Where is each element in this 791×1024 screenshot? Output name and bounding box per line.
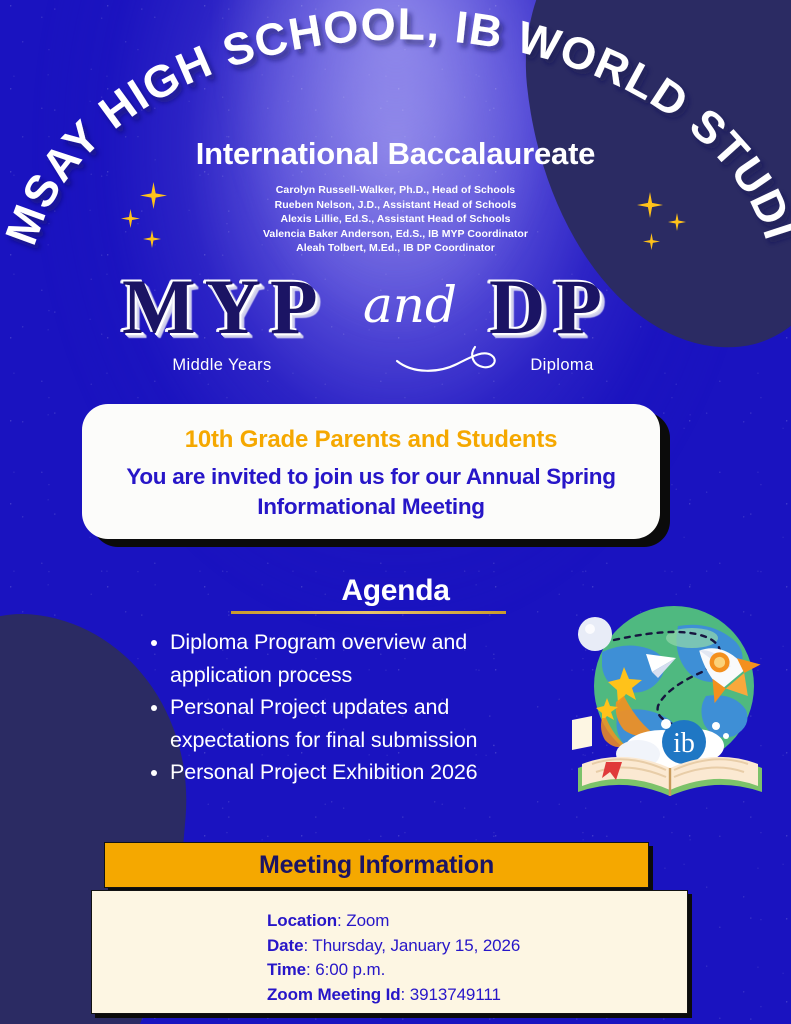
- meeting-info-row: Date: Thursday, January 15, 2026: [267, 934, 687, 959]
- paper-sheet-icon: [572, 716, 592, 750]
- program-myp-abbr: MYP: [122, 268, 327, 346]
- agenda-item: Diploma Program overview and application…: [170, 626, 570, 691]
- ib-badge-text: ib: [673, 728, 695, 759]
- staff-line: Aleah Tolbert, M.Ed., IB DP Coordinator: [0, 241, 791, 256]
- moon-icon: [578, 617, 612, 651]
- meeting-info-value: Zoom: [346, 911, 389, 930]
- meeting-info-value: Thursday, January 15, 2026: [312, 936, 520, 955]
- agenda-list: Diploma Program overview and application…: [148, 626, 570, 789]
- meeting-info-label: Time: [267, 960, 306, 979]
- meeting-info-label: Location: [267, 911, 337, 930]
- meeting-info-body: Location: Zoom Date: Thursday, January 1…: [91, 890, 688, 1014]
- meeting-info-label: Date: [267, 936, 303, 955]
- staff-list: Carolyn Russell-Walker, Ph.D., Head of S…: [0, 183, 791, 256]
- meeting-info-value: 3913749111: [410, 985, 501, 1004]
- staff-line: Alexis Lillie, Ed.S., Assistant Head of …: [0, 212, 791, 227]
- meeting-info-separator: :: [401, 985, 410, 1004]
- program-dp-abbr: DP: [489, 268, 611, 346]
- meeting-info-value: 6:00 p.m.: [315, 960, 385, 979]
- program-dp-label: Diploma: [487, 356, 637, 375]
- programs-section: MYP and DP Middle Years Diploma: [0, 268, 791, 378]
- agenda-divider: [231, 611, 506, 614]
- meeting-info-row: Zoom Meeting Id: 3913749111: [267, 983, 687, 1008]
- globe-open-book-illustration: ib: [566, 600, 774, 808]
- meeting-info-row: Location: Zoom: [267, 909, 687, 934]
- meeting-info-separator: :: [337, 911, 346, 930]
- staff-line: Rueben Nelson, J.D., Assistant Head of S…: [0, 198, 791, 213]
- meeting-info-header: Meeting Information: [104, 842, 649, 888]
- staff-line: Valencia Baker Anderson, Ed.S., IB MYP C…: [0, 227, 791, 242]
- program-myp-label: Middle Years: [122, 356, 322, 375]
- poster-canvas: RAMSAY HIGH SCHOOL, IB WORLD STUDIES Int…: [0, 0, 791, 1024]
- invitation-audience: 10th Grade Parents and Students: [185, 426, 558, 454]
- meeting-info-label: Zoom Meeting Id: [267, 985, 401, 1004]
- meeting-info-row: Time: 6:00 p.m.: [267, 958, 687, 983]
- meeting-info-separator: :: [306, 960, 315, 979]
- agenda-item: Personal Project updates and expectation…: [170, 691, 570, 756]
- invitation-message: You are invited to join us for our Annua…: [108, 462, 634, 522]
- subtitle-international-baccalaureate: International Baccalaureate: [0, 136, 791, 172]
- agenda-item: Personal Project Exhibition 2026: [170, 756, 570, 789]
- program-conjunction: and: [363, 280, 457, 330]
- staff-line: Carolyn Russell-Walker, Ph.D., Head of S…: [0, 183, 791, 198]
- invitation-card: 10th Grade Parents and Students You are …: [82, 404, 660, 539]
- meeting-information-panel: Meeting Information Location: Zoom Date:…: [90, 840, 700, 1018]
